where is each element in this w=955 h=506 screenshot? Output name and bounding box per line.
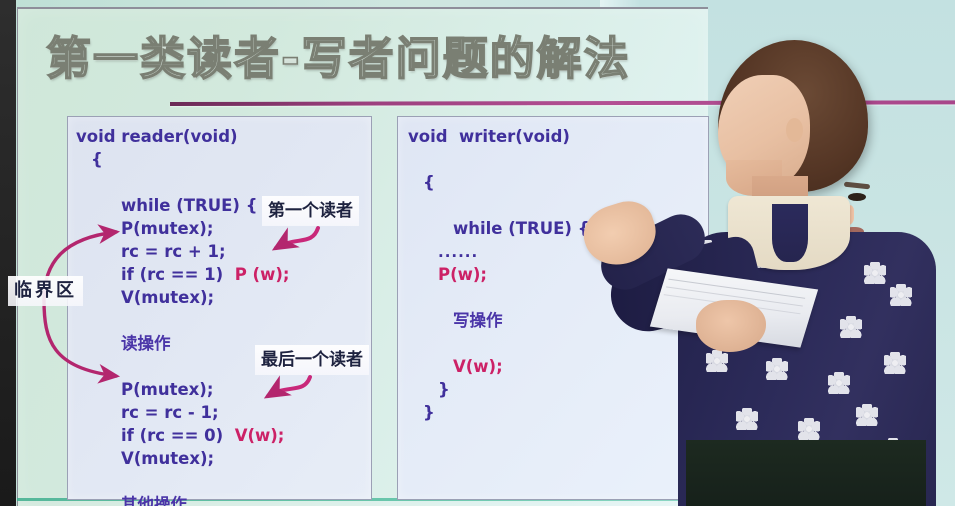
sweater-flower <box>890 284 912 306</box>
code-line-text: rc = rc + 1; <box>121 242 226 261</box>
code-line-text: 其他操作 <box>121 495 187 506</box>
annotation-last-reader: 最后一个读者 <box>255 345 369 375</box>
sweater-flower <box>828 372 850 394</box>
code-line: if (rc == 0) V(w); <box>68 424 371 447</box>
sweater-flower <box>798 418 820 440</box>
reader-code-panel: void reader(void){ while (TRUE) {P(mutex… <box>67 116 372 500</box>
code-semaphore-call: V(w); <box>223 426 284 445</box>
code-line-text: P(mutex); <box>121 380 213 399</box>
code-line-text: if (rc == 1) <box>121 265 223 284</box>
instructor-brow <box>844 182 870 190</box>
sweater-flower <box>766 358 788 380</box>
instructor-skirt <box>686 440 926 506</box>
lecture-video-frame: 第一类读者-写者问题的解法 void reader(void){ while (… <box>0 0 955 506</box>
annotation-first-reader: 第一个读者 <box>262 196 359 226</box>
code-line <box>68 171 371 194</box>
code-line-text: while (TRUE) { <box>121 196 257 215</box>
instructor-eye <box>848 193 866 201</box>
sweater-flower <box>884 352 906 374</box>
code-line-text: 读操作 <box>121 334 171 353</box>
code-line <box>68 309 371 332</box>
code-line-text: while (TRUE) { <box>453 219 589 238</box>
code-line-text: V(mutex); <box>121 449 214 468</box>
code-line-text: } <box>438 380 450 399</box>
sweater-flower <box>706 350 728 372</box>
code-line-text: if (rc == 0) <box>121 426 223 445</box>
reader-code-text: void reader(void){ while (TRUE) {P(mutex… <box>68 117 371 499</box>
code-line: rc = rc - 1; <box>68 401 371 424</box>
annotation-critical-section: 临界区 <box>8 276 83 306</box>
code-line-text: V(mutex); <box>121 288 214 307</box>
code-line-text: { <box>423 173 435 192</box>
code-semaphore-call: P (w); <box>223 265 289 284</box>
code-line: P(mutex); <box>68 378 371 401</box>
code-line-text: 写操作 <box>453 311 503 330</box>
code-semaphore-call: V(w); <box>453 357 503 376</box>
code-line-text: P(mutex); <box>121 219 213 238</box>
code-line <box>68 470 371 493</box>
code-line-text: { <box>91 150 103 169</box>
sweater-flower <box>736 408 758 430</box>
code-line: rc = rc + 1; <box>68 240 371 263</box>
instructor <box>600 0 955 506</box>
code-line-text: void writer(void) <box>408 127 570 146</box>
code-line: V(mutex); <box>68 286 371 309</box>
code-line-text: void reader(void) <box>76 127 238 146</box>
code-line-text: ...... <box>438 243 478 261</box>
sweater-flower <box>840 316 862 338</box>
sweater-flower <box>856 404 878 426</box>
code-line: V(mutex); <box>68 447 371 470</box>
code-line-text: rc = rc - 1; <box>121 403 219 422</box>
code-line: 其他操作 <box>68 493 371 506</box>
instructor-ear <box>786 118 803 142</box>
code-semaphore-call: P(w); <box>438 265 487 284</box>
sweater-flower <box>864 262 886 284</box>
page-title: 第一类读者-写者问题的解法 <box>46 28 686 90</box>
code-line: { <box>68 148 371 171</box>
code-line: void reader(void) <box>68 125 371 148</box>
frame-left-border <box>0 0 16 506</box>
code-line-text: } <box>423 403 435 422</box>
code-line: if (rc == 1) P (w); <box>68 263 371 286</box>
